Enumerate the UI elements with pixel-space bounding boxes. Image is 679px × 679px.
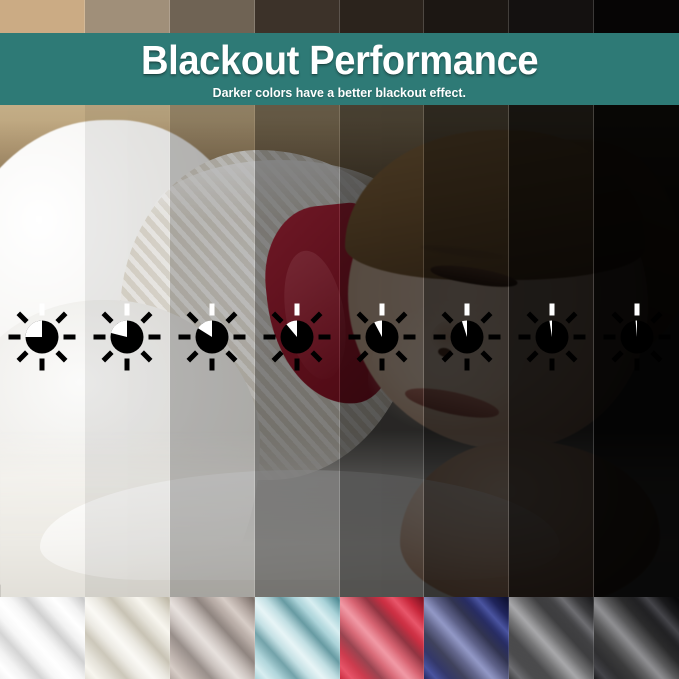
sun-icon-brightness-65 xyxy=(175,300,249,374)
fabric-swatch-white[interactable] xyxy=(0,597,85,679)
page-subtitle: Darker colors have a better blackout eff… xyxy=(213,85,466,100)
swatch-highlight xyxy=(0,597,85,679)
sun-icon-brightness-10 xyxy=(515,300,589,374)
swatch-highlight xyxy=(509,597,594,679)
brightness-indicator-row xyxy=(0,296,679,378)
sun-icon-brightness-45 xyxy=(260,300,334,374)
swatch-highlight xyxy=(340,597,425,679)
color-chip-taupe xyxy=(170,0,255,34)
brightness-cell-1 xyxy=(0,296,85,378)
page-title: Blackout Performance xyxy=(141,39,538,81)
brightness-cell-7 xyxy=(509,296,594,378)
color-gradient-strip xyxy=(0,0,679,34)
swatch-highlight xyxy=(85,597,170,679)
fabric-swatch-dark-gray[interactable] xyxy=(509,597,594,679)
header-banner: Blackout Performance Darker colors have … xyxy=(0,33,679,105)
color-chip-dark-brown xyxy=(255,0,340,34)
infographic-root: Blackout Performance Darker colors have … xyxy=(0,0,679,679)
swatch-highlight xyxy=(594,597,679,679)
color-chip-charcoal xyxy=(509,0,594,34)
fabric-swatch-navy[interactable] xyxy=(424,597,509,679)
brightness-cell-4 xyxy=(255,296,340,378)
color-chip-warm-gray xyxy=(85,0,170,34)
sun-icon-brightness-5 xyxy=(600,300,674,374)
fabric-swatch-light-blue[interactable] xyxy=(255,597,340,679)
brightness-cell-3 xyxy=(170,296,255,378)
swatch-highlight xyxy=(255,597,340,679)
brightness-cell-6 xyxy=(424,296,509,378)
brightness-cell-8 xyxy=(594,296,679,378)
fabric-swatch-cream[interactable] xyxy=(85,597,170,679)
sun-icon-brightness-100 xyxy=(5,300,79,374)
color-chip-black xyxy=(594,0,679,34)
fabric-swatch-red[interactable] xyxy=(340,597,425,679)
fabric-color-swatches xyxy=(0,597,679,679)
fabric-swatch-taupe[interactable] xyxy=(170,597,255,679)
color-chip-deep-brown xyxy=(340,0,425,34)
brightness-cell-5 xyxy=(340,296,425,378)
sun-icon-brightness-20 xyxy=(430,300,504,374)
fabric-swatch-black[interactable] xyxy=(594,597,679,679)
swatch-highlight xyxy=(424,597,509,679)
swatch-highlight xyxy=(170,597,255,679)
color-chip-tan xyxy=(0,0,85,34)
sun-icon-brightness-85 xyxy=(90,300,164,374)
sun-icon-brightness-32 xyxy=(345,300,419,374)
color-chip-near-black-brown xyxy=(424,0,509,34)
brightness-cell-2 xyxy=(85,296,170,378)
